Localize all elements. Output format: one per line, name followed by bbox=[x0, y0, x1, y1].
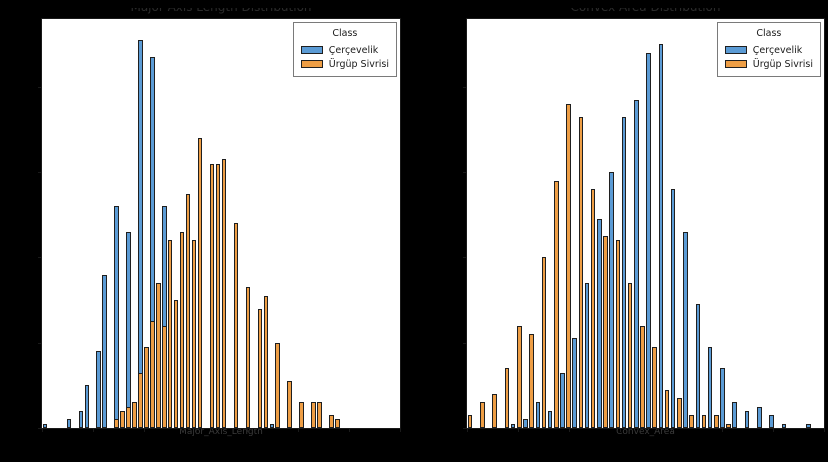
x-axis-tick bbox=[620, 428, 621, 432]
bar bbox=[542, 257, 547, 428]
x-axis-tick bbox=[722, 428, 723, 432]
legend-right: Class Çerçevelik Ürgüp Sivrisi bbox=[717, 22, 821, 77]
bar bbox=[480, 402, 485, 428]
legend-label-urgup-sivrisi: Ürgüp Sivrisi bbox=[329, 58, 389, 71]
bar bbox=[192, 240, 196, 428]
legend-item-urgup-sivrisi-right[interactable]: Ürgüp Sivrisi bbox=[725, 57, 813, 71]
legend-label-urgup-sivrisi-right: Ürgüp Sivrisi bbox=[753, 58, 813, 71]
bar bbox=[529, 334, 534, 428]
y-axis-tick bbox=[463, 257, 467, 258]
bar bbox=[162, 326, 166, 428]
bar bbox=[597, 219, 602, 428]
bar bbox=[210, 164, 214, 428]
bar bbox=[275, 343, 279, 428]
x-axis-label-left-text: Major_Axis_Length bbox=[179, 429, 263, 437]
legend-swatch-icon-urgup-sivrisi bbox=[301, 60, 323, 68]
bar-group-left bbox=[42, 19, 400, 428]
bar bbox=[180, 232, 184, 428]
bar bbox=[216, 164, 220, 428]
legend-title-left: Class bbox=[301, 27, 389, 40]
bar bbox=[246, 287, 250, 428]
figure-canvas: Major Axis Length Distribution Class Çer… bbox=[0, 0, 828, 462]
bar bbox=[96, 351, 100, 428]
bar bbox=[548, 411, 553, 428]
bar bbox=[566, 104, 571, 428]
legend-left: Class Çerçevelik Ürgüp Sivrisi bbox=[293, 22, 397, 77]
bar bbox=[769, 415, 774, 428]
bar bbox=[603, 236, 608, 428]
bar bbox=[745, 411, 750, 428]
bar bbox=[572, 338, 577, 428]
plot-area-left bbox=[42, 19, 400, 428]
bar bbox=[806, 424, 811, 428]
bar bbox=[299, 402, 303, 428]
bar bbox=[523, 419, 528, 428]
x-axis-tick bbox=[467, 428, 468, 432]
chart-title-right-clipped: Convex Area Distribution bbox=[467, 8, 824, 19]
bar bbox=[492, 394, 497, 428]
bar bbox=[150, 321, 154, 428]
bar bbox=[186, 194, 190, 428]
bar bbox=[79, 411, 83, 428]
bar bbox=[560, 373, 565, 428]
legend-label-cercevelik-right: Çerçevelik bbox=[753, 44, 803, 57]
legend-swatch-icon-cercevelik bbox=[301, 46, 323, 54]
bar bbox=[505, 368, 510, 428]
legend-label-cercevelik: Çerçevelik bbox=[329, 44, 379, 57]
bar bbox=[536, 402, 541, 428]
bar bbox=[67, 419, 71, 428]
bar bbox=[102, 275, 106, 428]
bar bbox=[634, 100, 639, 428]
plot-area-right bbox=[467, 19, 824, 428]
x-axis-tick bbox=[93, 428, 94, 432]
x-axis-tick bbox=[247, 428, 248, 432]
legend-item-urgup-sivrisi[interactable]: Ürgüp Sivrisi bbox=[301, 57, 389, 71]
bar bbox=[677, 398, 682, 428]
bar bbox=[174, 300, 178, 428]
bar bbox=[616, 240, 621, 428]
legend-item-cercevelik-right[interactable]: Çerçevelik bbox=[725, 43, 813, 57]
bar bbox=[120, 411, 124, 428]
y-axis-tick bbox=[38, 257, 42, 258]
bar bbox=[198, 138, 202, 428]
bar bbox=[585, 283, 590, 428]
bar bbox=[689, 415, 694, 428]
bar bbox=[85, 385, 89, 428]
bar bbox=[628, 283, 633, 428]
bar bbox=[640, 326, 645, 428]
bar bbox=[726, 424, 731, 428]
x-axis-tick bbox=[349, 428, 350, 432]
bar-group-right bbox=[467, 19, 824, 428]
x-axis-tick bbox=[518, 428, 519, 432]
x-axis-tick bbox=[42, 428, 43, 432]
bar bbox=[264, 296, 268, 428]
x-axis-tick bbox=[569, 428, 570, 432]
bar bbox=[683, 232, 688, 428]
bar bbox=[757, 407, 762, 428]
bar bbox=[114, 419, 118, 428]
y-axis-tick bbox=[463, 172, 467, 173]
bar bbox=[468, 415, 473, 428]
chart-panel-left: Major Axis Length Distribution Class Çer… bbox=[41, 18, 401, 429]
x-axis-tick bbox=[144, 428, 145, 432]
y-axis-tick bbox=[38, 343, 42, 344]
bar bbox=[168, 240, 172, 428]
bar bbox=[287, 381, 291, 428]
x-axis-tick bbox=[773, 428, 774, 432]
x-axis-label-right-clipped: Convex_Area bbox=[467, 429, 824, 442]
bar bbox=[126, 232, 130, 428]
bar bbox=[311, 402, 315, 428]
x-axis-tick bbox=[298, 428, 299, 432]
bar bbox=[665, 390, 670, 428]
bar bbox=[646, 53, 651, 428]
x-axis-tick bbox=[400, 428, 401, 432]
x-axis-tick bbox=[671, 428, 672, 432]
y-axis-tick bbox=[38, 87, 42, 88]
chart-title-left-text: Major Axis Length Distribution bbox=[130, 8, 311, 14]
chart-title-right-text: Convex Area Distribution bbox=[571, 8, 721, 14]
legend-swatch-icon-urgup-sivrisi-right bbox=[725, 60, 747, 68]
bar bbox=[126, 407, 130, 428]
y-axis-tick bbox=[38, 172, 42, 173]
bar bbox=[258, 309, 262, 428]
bar bbox=[138, 373, 142, 428]
bar bbox=[144, 347, 148, 428]
bar bbox=[732, 402, 737, 428]
legend-item-cercevelik[interactable]: Çerçevelik bbox=[301, 43, 389, 57]
bar bbox=[329, 415, 333, 428]
bar bbox=[138, 40, 142, 428]
bar bbox=[652, 347, 657, 428]
bar bbox=[335, 419, 339, 428]
legend-swatch-icon-cercevelik-right bbox=[725, 46, 747, 54]
y-axis-tick bbox=[463, 87, 467, 88]
bar bbox=[43, 424, 47, 428]
x-axis-tick bbox=[195, 428, 196, 432]
x-axis-tick bbox=[824, 428, 825, 432]
bar bbox=[517, 326, 522, 428]
bar bbox=[156, 283, 160, 428]
bar bbox=[234, 223, 238, 428]
bar bbox=[622, 117, 627, 428]
bar bbox=[591, 189, 596, 428]
chart-panel-right: Convex Area Distribution Class Çerçeveli… bbox=[466, 18, 825, 429]
legend-title-right: Class bbox=[725, 27, 813, 40]
bar bbox=[554, 181, 559, 428]
bar bbox=[132, 402, 136, 428]
bar bbox=[702, 415, 707, 428]
x-axis-label-right-text: Convex_Area bbox=[616, 429, 675, 437]
x-axis-label-left-clipped: Major_Axis_Length bbox=[42, 429, 400, 442]
chart-title-left-clipped: Major Axis Length Distribution bbox=[42, 8, 400, 19]
bar bbox=[720, 368, 725, 428]
bar bbox=[782, 424, 787, 428]
bar bbox=[579, 117, 584, 428]
bar bbox=[708, 347, 713, 428]
bar bbox=[222, 159, 226, 428]
bar bbox=[114, 206, 118, 428]
bar bbox=[511, 424, 516, 428]
y-axis-tick bbox=[463, 343, 467, 344]
bar bbox=[696, 304, 701, 428]
bar bbox=[671, 189, 676, 428]
bar bbox=[714, 415, 719, 428]
bar bbox=[317, 402, 321, 428]
bar bbox=[270, 424, 274, 428]
bar bbox=[609, 172, 614, 428]
bar bbox=[659, 44, 664, 428]
